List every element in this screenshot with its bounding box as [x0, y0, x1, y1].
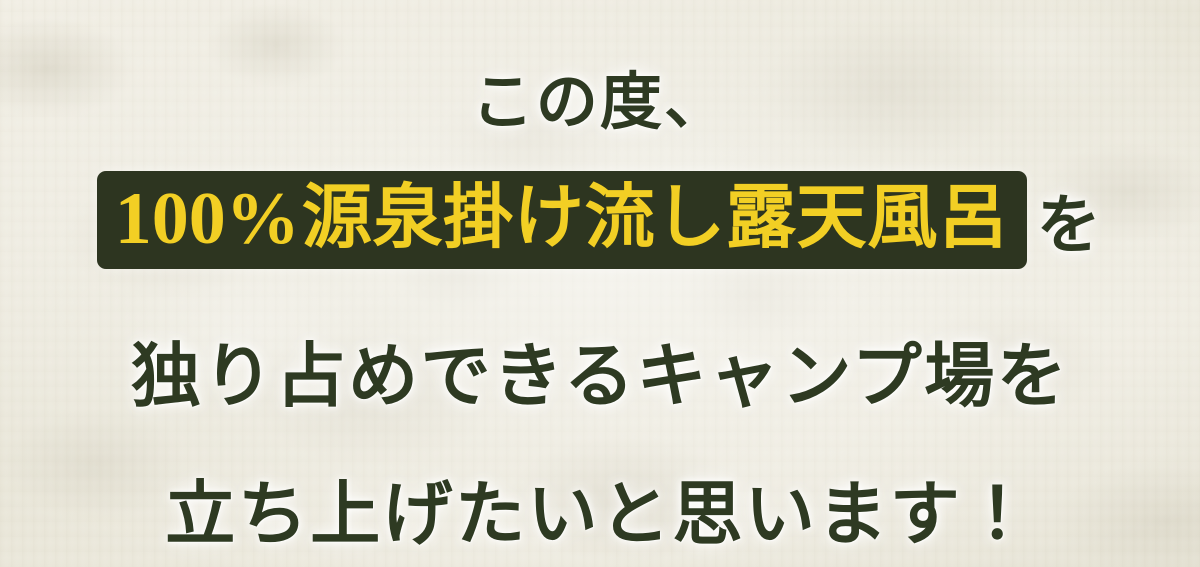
highlight-term-label: 源泉掛け流し露天風呂: [302, 184, 1009, 254]
highlight-chip: 100% 源泉掛け流し露天風呂: [97, 171, 1027, 269]
headline-line-2-particle: を: [1031, 174, 1103, 266]
headline-line-4: 立ち上げたいと思います！: [165, 454, 1034, 562]
headline-line-1: この度、: [472, 48, 729, 144]
headline-banner: この度、 100% 源泉掛け流し露天風呂 を 独り占めできるキャンプ場を 立ち上…: [0, 0, 1200, 567]
headline-text-block: この度、 100% 源泉掛け流し露天風呂 を 独り占めできるキャンプ場を 立ち上…: [0, 0, 1200, 567]
highlight-percent-value: 100%: [115, 186, 302, 253]
headline-line-3: 独り占めできるキャンプ場を: [131, 316, 1069, 424]
headline-line-2: 100% 源泉掛け流し露天風呂 を: [97, 168, 1103, 272]
